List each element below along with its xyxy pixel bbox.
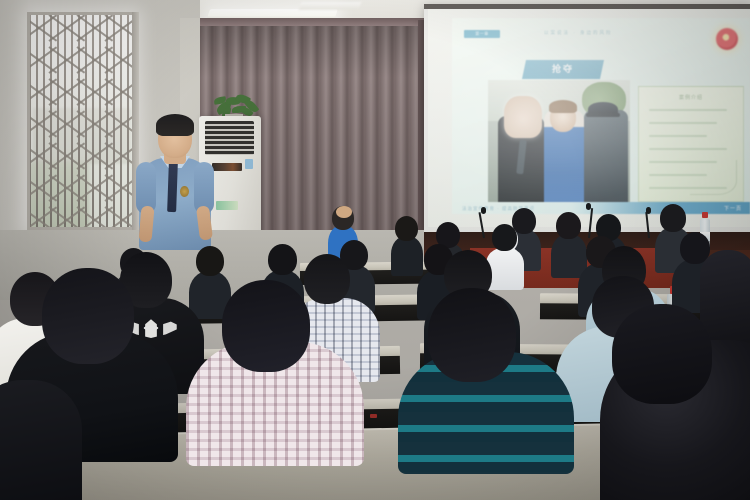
- slide-panel-text-line: [649, 148, 727, 150]
- slide-chapter-tag: 第一章: [464, 30, 500, 38]
- microphone-head: [586, 203, 591, 210]
- air-conditioner-vent: [205, 121, 254, 155]
- presentation-slide: 第一章 以案说法 · 身边的风险 抢夺 案例介绍 法治宣传教育 · 提高防范意识: [452, 18, 750, 214]
- audience-member-torso: [551, 234, 587, 278]
- slide-panel-text-line: [649, 109, 727, 111]
- air-conditioner-label: [216, 201, 238, 210]
- window-frame: [27, 12, 137, 230]
- slide-next-button[interactable]: 下一页: [724, 205, 742, 212]
- slide-photo: [488, 80, 630, 202]
- audience-member-head: [304, 254, 350, 304]
- slide-photo-police-cap-brim: [586, 113, 620, 117]
- slide-panel-text-line: [649, 135, 707, 137]
- audience-member-head: [512, 208, 536, 234]
- police-badge-emblem-icon: [716, 28, 738, 50]
- slide-panel-title: 案例介绍: [639, 94, 743, 101]
- desk-number-tag: [370, 414, 377, 418]
- presenter-tie: [167, 162, 178, 212]
- slide-panel-text-line: [649, 122, 717, 124]
- audience-member-head: [428, 288, 516, 382]
- slide-text-panel: 案例介绍: [638, 86, 744, 202]
- audience-member-torso: [391, 236, 423, 276]
- audience-member-head: [492, 224, 517, 251]
- slide-photo-raised-hand: [504, 96, 542, 138]
- slide-banner: 抢夺: [522, 60, 604, 79]
- slide-chapter-tag-label: 第一章: [464, 30, 500, 38]
- slide-header-text: 以案说法 · 身边的风险: [544, 30, 613, 36]
- air-conditioner-sticker: [245, 159, 253, 169]
- slide-photo-suspect-hair: [549, 100, 577, 113]
- slide-decor-curve: [690, 160, 737, 195]
- bottle-cap: [702, 212, 708, 218]
- presenter-badge: [180, 186, 189, 197]
- lecture-room-photo: 第一章 以案说法 · 身边的风险 抢夺 案例介绍 法治宣传教育 · 提高防范意识: [0, 0, 750, 500]
- audience-member-head: [660, 204, 686, 232]
- microphone-head: [646, 207, 651, 214]
- slide-banner-title: 抢夺: [524, 60, 602, 79]
- audience-bald-spot: [336, 206, 352, 218]
- audience-white-tshirt: [486, 248, 524, 290]
- microphone-head: [481, 207, 486, 214]
- audience-left-edge-figure: [0, 380, 82, 500]
- audience-member-head: [556, 212, 581, 239]
- curtain-rail: [200, 18, 428, 26]
- audience-member-head: [196, 246, 224, 276]
- audience-member-head: [42, 268, 134, 364]
- audience-member-head: [268, 244, 297, 275]
- ceiling-light-reflection: [299, 2, 362, 10]
- audience-member-head: [612, 304, 712, 404]
- audience-member-head: [222, 280, 310, 372]
- slide-photo-officer-right: [584, 110, 628, 202]
- audience-member-head: [395, 216, 418, 241]
- air-conditioner-display: [212, 163, 242, 171]
- presenter-hair: [156, 114, 194, 136]
